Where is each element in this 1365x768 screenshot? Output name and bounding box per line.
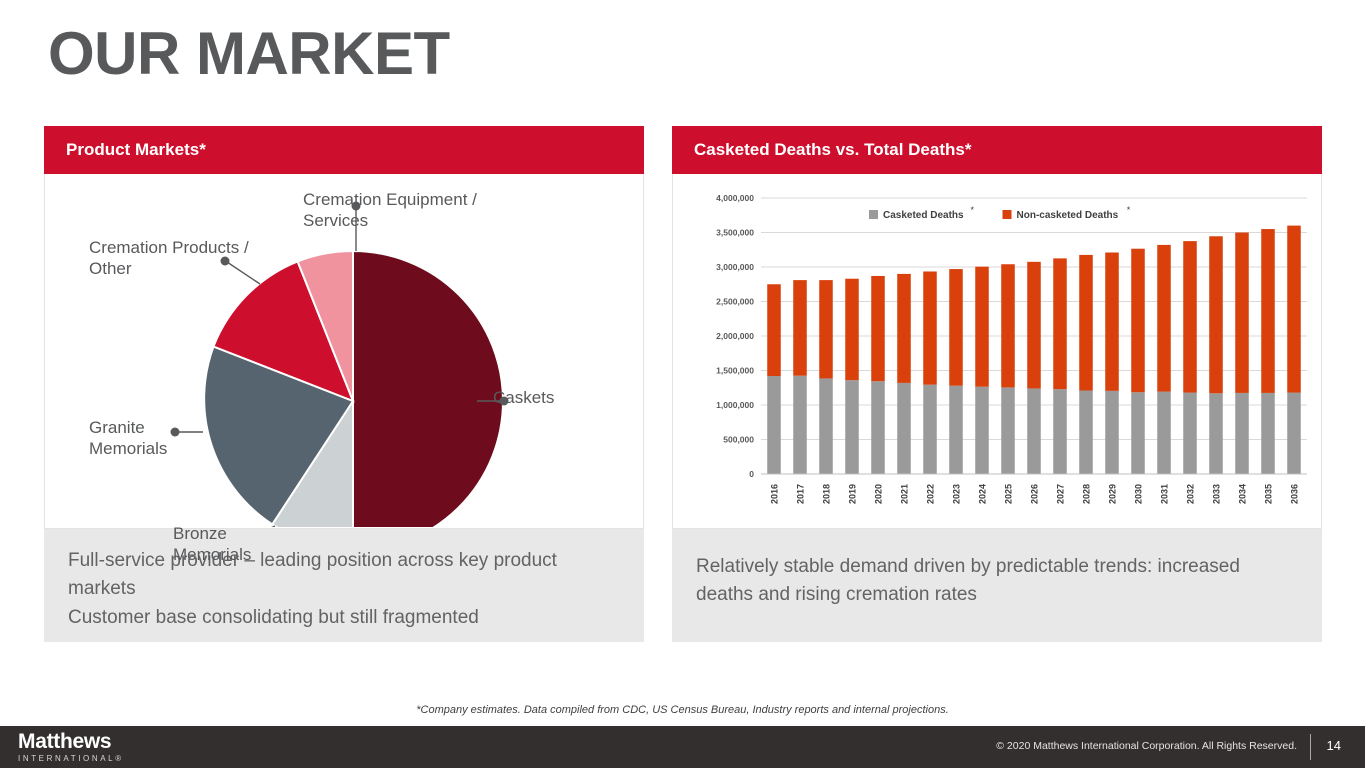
x-axis-tick-label: 2035 [1264, 484, 1274, 504]
x-axis-tick-label: 2027 [1056, 484, 1066, 504]
legend-footnote-marker: * [1127, 205, 1131, 215]
x-axis-tick-label: 2024 [978, 484, 988, 504]
bar-segment-casketed-deaths[interactable] [1027, 388, 1041, 474]
bar-segment-casketed-deaths[interactable] [1079, 391, 1093, 474]
product-markets-note-2: Customer base consolidating but still fr… [68, 604, 620, 632]
legend-footnote-marker: * [971, 205, 975, 215]
pie-slice-caskets[interactable] [353, 251, 503, 527]
bar-segment-non-casketed-deaths[interactable] [1027, 262, 1041, 389]
casketed-deaths-notes: Relatively stable demand driven by predi… [672, 529, 1322, 642]
x-axis-tick-label: 2017 [796, 484, 806, 504]
casketed-deaths-chart-area: 0500,0001,000,0001,500,0002,000,0002,500… [672, 174, 1322, 529]
footer-divider [1310, 734, 1311, 760]
bar-segment-non-casketed-deaths[interactable] [1079, 255, 1093, 391]
x-axis-tick-label: 2028 [1082, 484, 1092, 504]
legend-swatch[interactable] [869, 210, 878, 219]
x-axis-tick-label: 2020 [874, 484, 884, 504]
x-axis-tick-label: 2033 [1212, 484, 1222, 504]
copyright-text: © 2020 Matthews International Corporatio… [996, 740, 1297, 752]
bar-segment-non-casketed-deaths[interactable] [1183, 241, 1197, 392]
y-axis-tick-label: 2,000,000 [716, 331, 754, 341]
y-axis-tick-label: 2,500,000 [716, 297, 754, 307]
slide-footer: Matthews INTERNATIONAL® © 2020 Matthews … [0, 726, 1365, 768]
y-axis-tick-label: 0 [749, 469, 754, 479]
product-markets-notes: Full-service provider – leading position… [44, 529, 644, 642]
bar-segment-non-casketed-deaths[interactable] [1131, 249, 1145, 393]
pie-label-granite-memorials: Granite Memorials [89, 418, 199, 459]
matthews-logo-tagline: INTERNATIONAL® [18, 754, 124, 763]
legend-swatch[interactable] [1003, 210, 1012, 219]
bar-segment-non-casketed-deaths[interactable] [975, 267, 989, 387]
page-title: OUR MARKET [48, 24, 450, 84]
x-axis-tick-label: 2031 [1160, 484, 1170, 504]
x-axis-tick-label: 2036 [1290, 484, 1300, 504]
pie-label-caskets: Caskets [493, 388, 554, 409]
x-axis-tick-label: 2021 [900, 484, 910, 504]
casketed-deaths-note-1: Relatively stable demand driven by predi… [696, 553, 1298, 608]
bar-segment-non-casketed-deaths[interactable] [897, 274, 911, 383]
casketed-deaths-panel: Casketed Deaths vs. Total Deaths* 0500,0… [672, 126, 1322, 642]
product-markets-panel: Product Markets* [44, 126, 644, 642]
x-axis-tick-label: 2025 [1004, 484, 1014, 504]
y-axis-tick-label: 1,500,000 [716, 366, 754, 376]
bar-segment-casketed-deaths[interactable] [1209, 393, 1223, 474]
y-axis-tick-label: 4,000,000 [716, 193, 754, 203]
bar-segment-casketed-deaths[interactable] [1053, 389, 1067, 474]
bar-segment-non-casketed-deaths[interactable] [819, 280, 833, 378]
bar-segment-casketed-deaths[interactable] [1183, 393, 1197, 474]
casketed-deaths-header: Casketed Deaths vs. Total Deaths* [672, 126, 1322, 174]
bar-segment-non-casketed-deaths[interactable] [871, 276, 885, 381]
bar-segment-non-casketed-deaths[interactable] [1105, 253, 1119, 391]
bar-segment-non-casketed-deaths[interactable] [1001, 264, 1015, 387]
bar-segment-casketed-deaths[interactable] [897, 383, 911, 474]
chart-legend: Casketed Deaths*Non-casketed Deaths* [869, 205, 1131, 221]
bar-segment-non-casketed-deaths[interactable] [1157, 245, 1171, 392]
x-axis-tick-label: 2026 [1030, 484, 1040, 504]
x-axis-tick-label: 2030 [1134, 484, 1144, 504]
bar-segment-casketed-deaths[interactable] [1001, 387, 1015, 474]
y-axis-tick-label: 1,000,000 [716, 400, 754, 410]
matthews-logo-wordmark: Matthews [18, 730, 124, 753]
y-axis-tick-label: 500,000 [723, 435, 754, 445]
bar-segment-non-casketed-deaths[interactable] [1287, 226, 1301, 393]
bar-segment-non-casketed-deaths[interactable] [949, 269, 963, 386]
y-axis-tick-label: 3,000,000 [716, 262, 754, 272]
bar-segment-casketed-deaths[interactable] [1261, 393, 1275, 474]
matthews-logo: Matthews INTERNATIONAL® [18, 730, 124, 763]
bar-segment-casketed-deaths[interactable] [871, 381, 885, 474]
page-number: 14 [1327, 738, 1341, 753]
bar-segment-casketed-deaths[interactable] [793, 376, 807, 474]
footnote: *Company estimates. Data compiled from C… [0, 704, 1365, 716]
bar-segment-non-casketed-deaths[interactable] [923, 271, 937, 384]
product-markets-note-1: Full-service provider – leading position… [68, 547, 620, 602]
bar-segment-casketed-deaths[interactable] [1287, 393, 1301, 474]
legend-label: Non-casketed Deaths [1017, 210, 1119, 221]
bar-segment-casketed-deaths[interactable] [1157, 392, 1171, 474]
product-markets-chart-area: Caskets Cremation Equipment / Services C… [44, 174, 644, 529]
product-markets-header-label: Product Markets* [66, 140, 206, 160]
slide: OUR MARKET Product Markets* [0, 0, 1365, 768]
bar-segment-casketed-deaths[interactable] [767, 376, 781, 474]
bar-segment-non-casketed-deaths[interactable] [1235, 233, 1249, 393]
bar-segment-non-casketed-deaths[interactable] [1209, 236, 1223, 393]
bar-segment-non-casketed-deaths[interactable] [793, 280, 807, 376]
product-markets-header: Product Markets* [44, 126, 644, 174]
bar-segment-non-casketed-deaths[interactable] [1053, 258, 1067, 389]
x-axis-tick-label: 2023 [952, 484, 962, 504]
pie-label-cremation-equipment: Cremation Equipment / Services [303, 190, 523, 231]
pie-label-bronze-memorials: Bronze Memorials [173, 524, 293, 565]
pie-label-cremation-products: Cremation Products / Other [89, 238, 259, 279]
stacked-bar-chart: 0500,0001,000,0001,500,0002,000,0002,500… [673, 174, 1321, 527]
x-axis-tick-label: 2034 [1238, 484, 1248, 504]
bar-segment-casketed-deaths[interactable] [1235, 393, 1249, 474]
bar-segment-casketed-deaths[interactable] [975, 387, 989, 474]
casketed-deaths-header-label: Casketed Deaths vs. Total Deaths* [694, 140, 971, 160]
y-axis-tick-label: 3,500,000 [716, 228, 754, 238]
x-axis-tick-label: 2022 [926, 484, 936, 504]
x-axis-tick-label: 2019 [848, 484, 858, 504]
bar-segment-casketed-deaths[interactable] [1105, 391, 1119, 474]
bar-segment-casketed-deaths[interactable] [949, 386, 963, 474]
bar-segment-casketed-deaths[interactable] [923, 385, 937, 474]
pie-chart: Caskets Cremation Equipment / Services C… [45, 174, 643, 528]
x-axis-tick-label: 2018 [822, 484, 832, 504]
x-axis-tick-label: 2032 [1186, 484, 1196, 504]
x-axis-tick-label: 2016 [770, 484, 780, 504]
bar-segment-non-casketed-deaths[interactable] [845, 279, 859, 380]
legend-label: Casketed Deaths [883, 210, 964, 221]
bar-segment-non-casketed-deaths[interactable] [1261, 229, 1275, 393]
x-axis-tick-label: 2029 [1108, 484, 1118, 504]
bar-segment-casketed-deaths[interactable] [819, 378, 833, 474]
bar-segment-casketed-deaths[interactable] [1131, 392, 1145, 474]
bar-segment-casketed-deaths[interactable] [845, 380, 859, 474]
bar-segment-non-casketed-deaths[interactable] [767, 284, 781, 376]
